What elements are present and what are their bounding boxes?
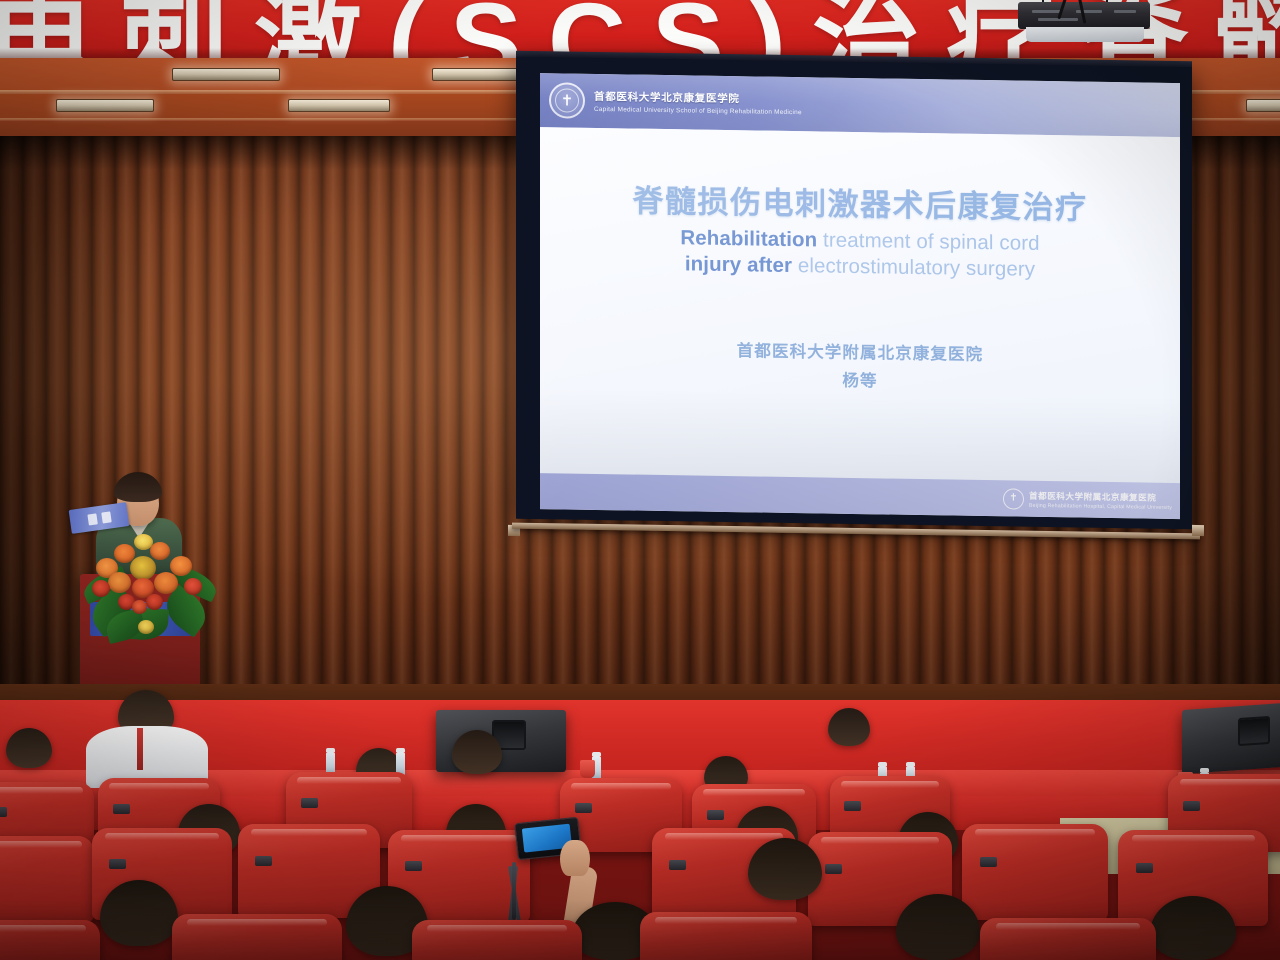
seat-number-tag [405, 861, 422, 871]
bouquet-flower [132, 600, 147, 614]
speaker-port [1238, 716, 1270, 746]
bouquet-flower [170, 556, 192, 576]
slide-title-en-line2-rest: electrostimulatory surgery [792, 254, 1035, 281]
slide-title-en-line1-rest: treatment of spinal cord [817, 228, 1039, 254]
projection-screen: ✝ 首都医科大学北京康复医学院 Capital Medical Universi… [540, 73, 1180, 519]
slide-header-org-en: Capital Medical University School of Bei… [594, 106, 802, 116]
bottle-cap [1200, 768, 1209, 772]
auditorium-presentation-scene: 电刺激(SCS)治疗脊髓损 ✝ [0, 0, 1280, 960]
slide-title-en-line1-bold: Rehabilitation [680, 226, 817, 251]
bouquet-flower [108, 572, 131, 593]
seat-number-tag [1183, 801, 1200, 811]
university-seal-icon: ✝ [549, 82, 585, 119]
seat-number-tag [575, 803, 592, 813]
bouquet-flower [154, 572, 178, 594]
slide-title-cn: 脊髓损伤电刺激器术后康复治疗 [540, 183, 1180, 228]
auditorium-seat[interactable] [962, 824, 1108, 920]
lanyard [137, 728, 143, 770]
auditorium-seat[interactable] [412, 920, 582, 960]
bouquet-flower [146, 594, 163, 610]
seat-number-tag [113, 804, 130, 814]
seat-number-tag [669, 860, 686, 870]
ceiling-light-icon [172, 68, 280, 81]
ceiling-projector [1018, 2, 1150, 42]
ceiling-light-icon [1246, 99, 1280, 112]
slide-title-en-line2-bold: injury after [685, 252, 792, 277]
seat-number-tag [255, 856, 272, 866]
seal-cross-glyph: ✝ [555, 88, 579, 112]
auditorium-seat[interactable] [0, 920, 100, 960]
speaker-hair [114, 472, 162, 502]
slide-footer-org-cn: 首都医科大学附属北京康复医院 [1029, 489, 1172, 503]
stage-monitor-speaker [1182, 702, 1280, 774]
placard-glyph [87, 513, 97, 525]
bouquet-flower [150, 542, 170, 560]
hospital-seal-icon: ✝ [1003, 488, 1024, 509]
podium-area [62, 470, 252, 700]
seat-number-tag [0, 807, 7, 817]
audience-head [748, 838, 822, 900]
slide-header-band: ✝ 首都医科大学北京康复医学院 Capital Medical Universi… [540, 73, 1180, 137]
slide-footer-text: 首都医科大学附属北京康复医院 Beijing Rehabilitation Ho… [1029, 489, 1172, 510]
ceiling-light-icon [56, 99, 154, 112]
projection-screen-frame: ✝ 首都医科大学北京康复医学院 Capital Medical Universi… [516, 57, 1192, 530]
bottle-cap [326, 748, 335, 752]
ceiling-light-icon [288, 99, 390, 112]
placard-glyph [101, 511, 111, 523]
seat-number-tag [980, 857, 997, 867]
auditorium-seat[interactable] [640, 912, 812, 960]
audience-head [828, 708, 870, 746]
paper-cup [580, 760, 595, 778]
audience-hand [560, 840, 590, 876]
auditorium-seat[interactable] [0, 836, 94, 922]
bouquet-flower [130, 556, 156, 580]
auditorium-seat[interactable] [172, 914, 342, 960]
seat-number-tag [1136, 863, 1153, 873]
seat-number-tag [844, 801, 861, 811]
seat-number-tag [707, 810, 724, 820]
audience-head [452, 730, 502, 774]
slide-header-text: 首都医科大学北京康复医学院 Capital Medical University… [594, 89, 802, 116]
auditorium-seat[interactable] [980, 918, 1156, 960]
bottle-cap [878, 762, 887, 766]
slide-body: 脊髓损伤电刺激器术后康复治疗 Rehabilitation treatment … [540, 127, 1180, 483]
audience-head [6, 728, 52, 768]
slide-footer-org-en: Beijing Rehabilitation Hospital, Capital… [1029, 502, 1172, 510]
projector-vent [1032, 10, 1062, 13]
bouquet-flower [184, 578, 202, 595]
bouquet-flower [92, 580, 110, 597]
bottle-cap [592, 752, 601, 756]
seat-number-tag [301, 798, 318, 808]
projector-base-plate [1026, 27, 1144, 42]
screen-rail-cap-right [1192, 525, 1204, 536]
flower-bouquet [84, 528, 214, 640]
seat-number-tag [825, 864, 842, 874]
slide-header-org-cn: 首都医科大学北京康复医学院 [594, 89, 802, 107]
bouquet-flower [138, 620, 154, 634]
seat-number-tag [109, 859, 126, 869]
tripod-column [512, 862, 516, 920]
slide-title-en: Rehabilitation treatment of spinal cord … [540, 223, 1180, 285]
bottle-cap [396, 748, 405, 752]
bottle-cap [906, 762, 915, 766]
projector-vent [1114, 10, 1136, 13]
